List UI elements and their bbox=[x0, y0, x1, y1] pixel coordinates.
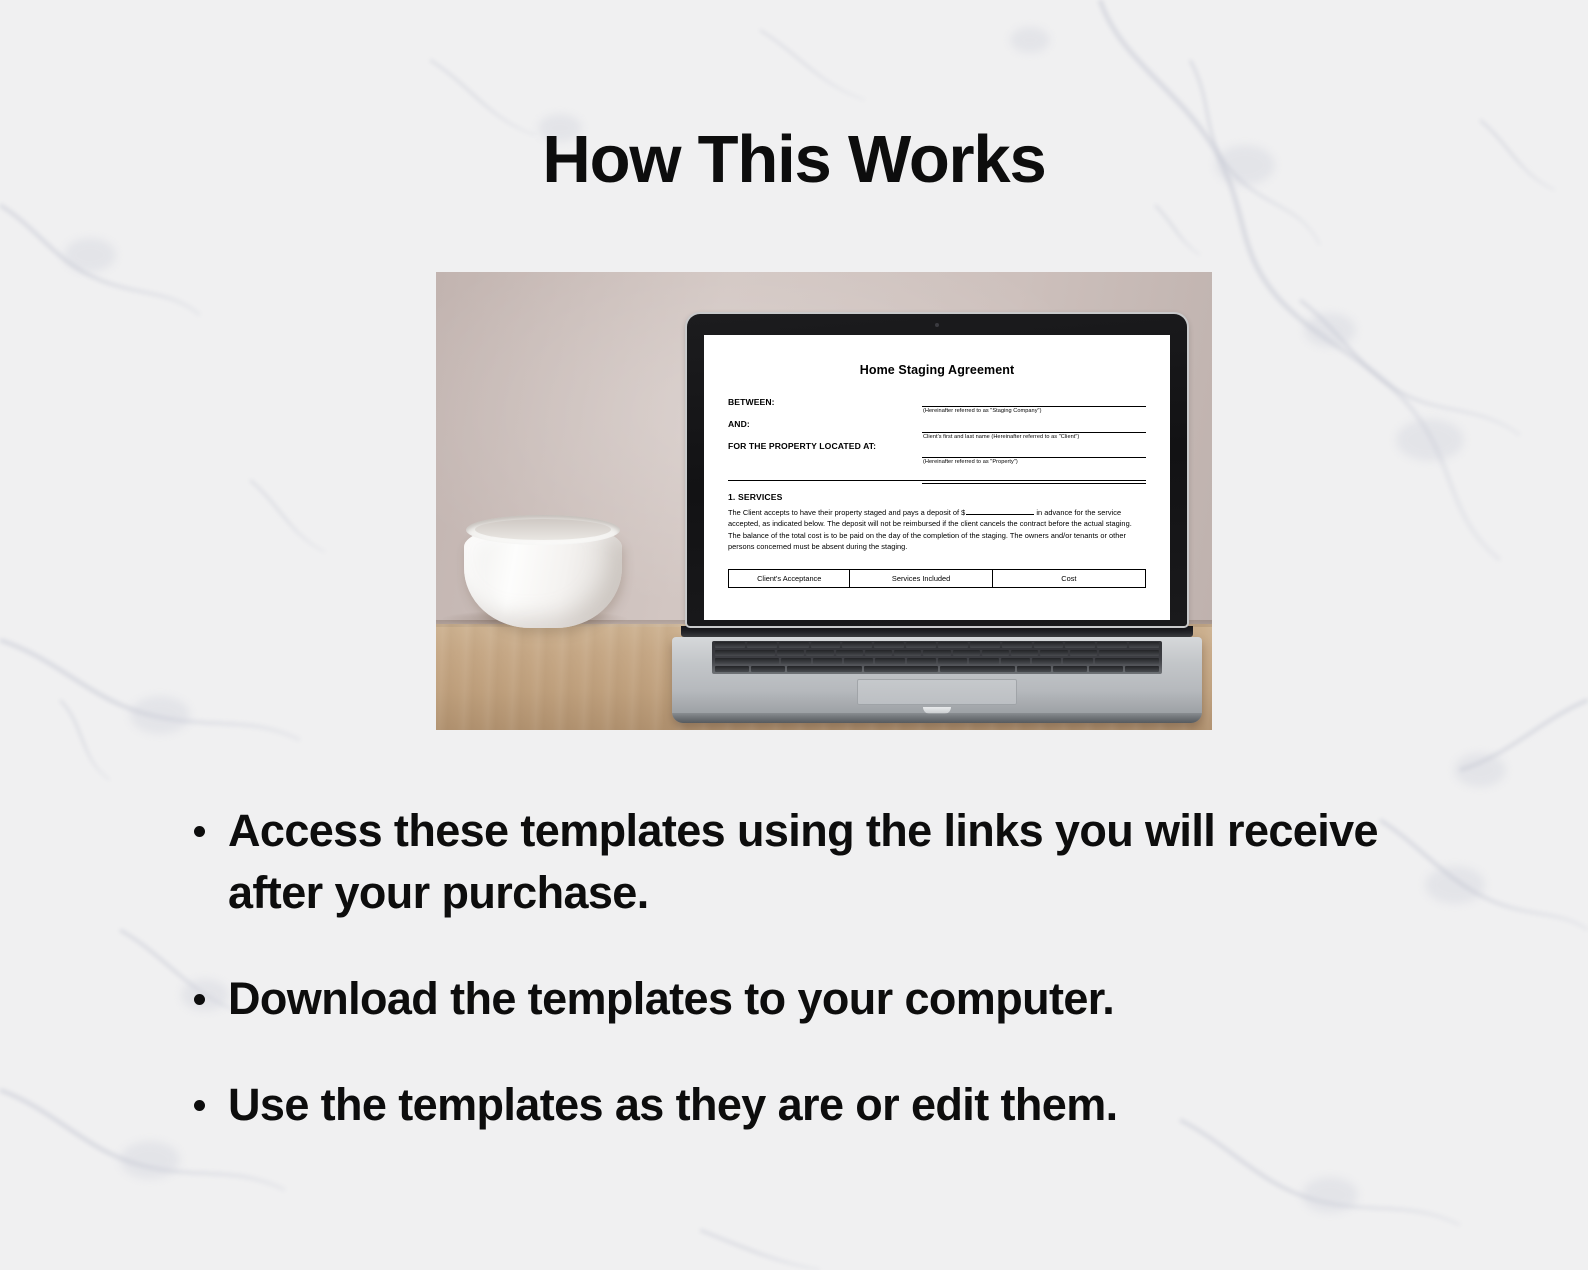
list-item: Use the templates as they are or edit th… bbox=[186, 1074, 1396, 1136]
document-parties: BETWEEN: AND: FOR THE PROPERTY LOCATED A… bbox=[726, 397, 1148, 471]
table-header-acceptance: Client's Acceptance bbox=[729, 570, 850, 587]
fill-line-property bbox=[922, 444, 1146, 458]
laptop-base bbox=[672, 637, 1202, 723]
list-item: Download the templates to your computer. bbox=[186, 968, 1396, 1030]
list-item: Access these templates using the links y… bbox=[186, 800, 1396, 924]
page-title: How This Works bbox=[0, 123, 1588, 197]
table-header-cost: Cost bbox=[993, 570, 1145, 587]
deposit-blank bbox=[966, 507, 1034, 515]
party-label-between: BETWEEN: bbox=[728, 397, 928, 407]
base-edge bbox=[672, 713, 1202, 723]
laptop-on-desk-photo: Home Staging Agreement BETWEEN: AND: FOR… bbox=[436, 272, 1212, 730]
trackpad bbox=[857, 679, 1017, 705]
fill-line-company bbox=[922, 393, 1146, 407]
services-body-start: The Client accepts to have their propert… bbox=[728, 508, 965, 517]
laptop-lid: Home Staging Agreement BETWEEN: AND: FOR… bbox=[687, 314, 1187, 626]
ceramic-bowl bbox=[464, 512, 622, 630]
party-caption-property: (Hereinafter referred to as "Property") bbox=[922, 458, 1146, 470]
party-label-and: AND: bbox=[728, 419, 928, 429]
laptop-hinge bbox=[681, 626, 1193, 637]
keyboard bbox=[712, 641, 1162, 674]
table-header-services: Services Included bbox=[850, 570, 992, 587]
laptop-screen: Home Staging Agreement BETWEEN: AND: FOR… bbox=[704, 335, 1170, 620]
party-caption-company: (Hereinafter referred to as "Staging Com… bbox=[922, 407, 1146, 419]
section-heading-services: 1. SERVICES bbox=[728, 492, 1148, 502]
document-title: Home Staging Agreement bbox=[726, 363, 1148, 377]
instruction-list: Access these templates using the links y… bbox=[186, 800, 1396, 1180]
party-label-property: FOR THE PROPERTY LOCATED AT: bbox=[728, 441, 928, 451]
fill-line-extra bbox=[922, 470, 1146, 484]
party-caption-client: Client's first and last name (Hereinafte… bbox=[922, 433, 1146, 445]
webcam-icon bbox=[935, 323, 939, 327]
section-body-services: The Client accepts to have their propert… bbox=[728, 507, 1146, 552]
agreement-document: Home Staging Agreement BETWEEN: AND: FOR… bbox=[704, 335, 1170, 620]
laptop: Home Staging Agreement BETWEEN: AND: FOR… bbox=[672, 314, 1202, 723]
services-table: Client's Acceptance Services Included Co… bbox=[728, 569, 1146, 588]
fill-line-client bbox=[922, 419, 1146, 433]
